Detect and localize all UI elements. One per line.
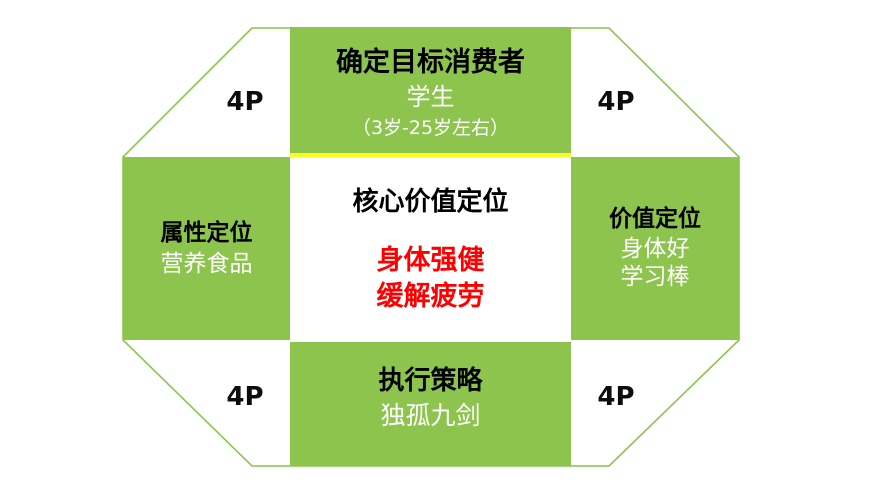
cell-core-value-line2: 缓解疲劳 [377,281,485,312]
cell-attribute-positioning-title: 属性定位 [161,220,253,247]
corner-4p-text-bottom-left: 4P [226,382,263,412]
cell-value-positioning-title: 价值定位 [609,206,701,233]
corner-4p-text-top-left: 4P [226,87,263,117]
corner-label-bottom-left: 4P [200,375,290,419]
diagram-canvas: 确定目标消费者 学生 （3岁-25岁左右） 属性定位 营养食品 核心价值定位 身… [0,0,870,494]
cell-value-positioning-line2: 学习棒 [621,264,690,291]
cell-value-positioning[interactable]: 价值定位 身体好 学习棒 [571,157,739,340]
cell-target-consumer[interactable]: 确定目标消费者 学生 （3岁-25岁左右） [290,27,571,155]
corner-label-top-left: 4P [200,80,290,124]
cell-attribute-positioning-subtitle: 营养食品 [161,251,253,278]
cell-execution-strategy-subtitle: 独孤九剑 [380,401,480,430]
cell-attribute-positioning[interactable]: 属性定位 营养食品 [123,157,290,340]
cell-execution-strategy[interactable]: 执行策略 独孤九剑 [290,342,571,466]
corner-label-top-right: 4P [571,80,661,124]
cell-value-positioning-line1: 身体好 [621,236,690,263]
cell-execution-strategy-title: 执行策略 [378,366,482,396]
cell-core-value-title: 核心价值定位 [352,187,508,217]
cell-core-value-line1: 身体强健 [377,245,485,276]
corner-4p-text-top-right: 4P [597,87,634,117]
cell-target-consumer-title: 确定目标消费者 [336,47,525,78]
corner-4p-text-bottom-right: 4P [597,382,634,412]
cell-core-value-statement: 身体强健 缓解疲劳 [377,245,485,313]
corner-label-bottom-right: 4P [571,375,661,419]
cell-target-consumer-detail: （3岁-25岁左右） [352,117,509,139]
cell-target-consumer-subtitle: 学生 [407,84,455,112]
cell-core-value-positioning[interactable]: 核心价值定位 身体强健 缓解疲劳 [290,157,571,340]
